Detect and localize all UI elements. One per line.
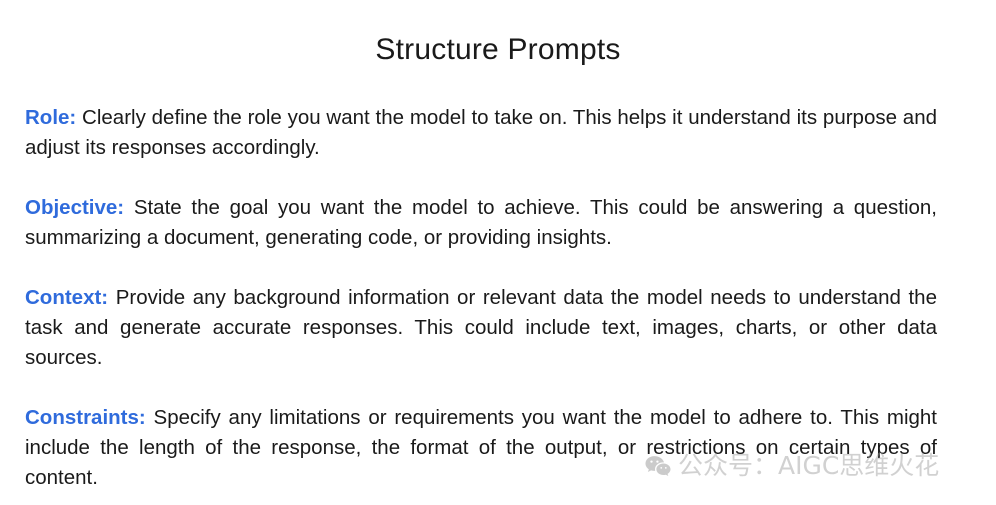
section-context: Context: Provide any background informat… — [25, 283, 937, 373]
section-role-text: Clearly define the role you want the mod… — [25, 106, 937, 159]
section-constraints-label: Constraints: — [25, 406, 146, 429]
section-context-label: Context: — [25, 286, 108, 309]
prompt-sections: Role: Clearly define the role you want t… — [25, 103, 937, 493]
section-constraints: Constraints: Specify any limitations or … — [25, 403, 937, 493]
section-context-text: Provide any background information or re… — [25, 286, 937, 369]
section-objective-text: State the goal you want the model to ach… — [25, 196, 937, 249]
page-title: Structure Prompts — [0, 30, 996, 70]
section-constraints-text: Specify any limitations or requirements … — [25, 406, 937, 489]
slide-root: Structure Prompts Role: Clearly define t… — [0, 0, 996, 505]
section-objective-label: Objective: — [25, 196, 124, 219]
section-role: Role: Clearly define the role you want t… — [25, 103, 937, 163]
section-role-label: Role: — [25, 106, 76, 129]
section-objective: Objective: State the goal you want the m… — [25, 193, 937, 253]
